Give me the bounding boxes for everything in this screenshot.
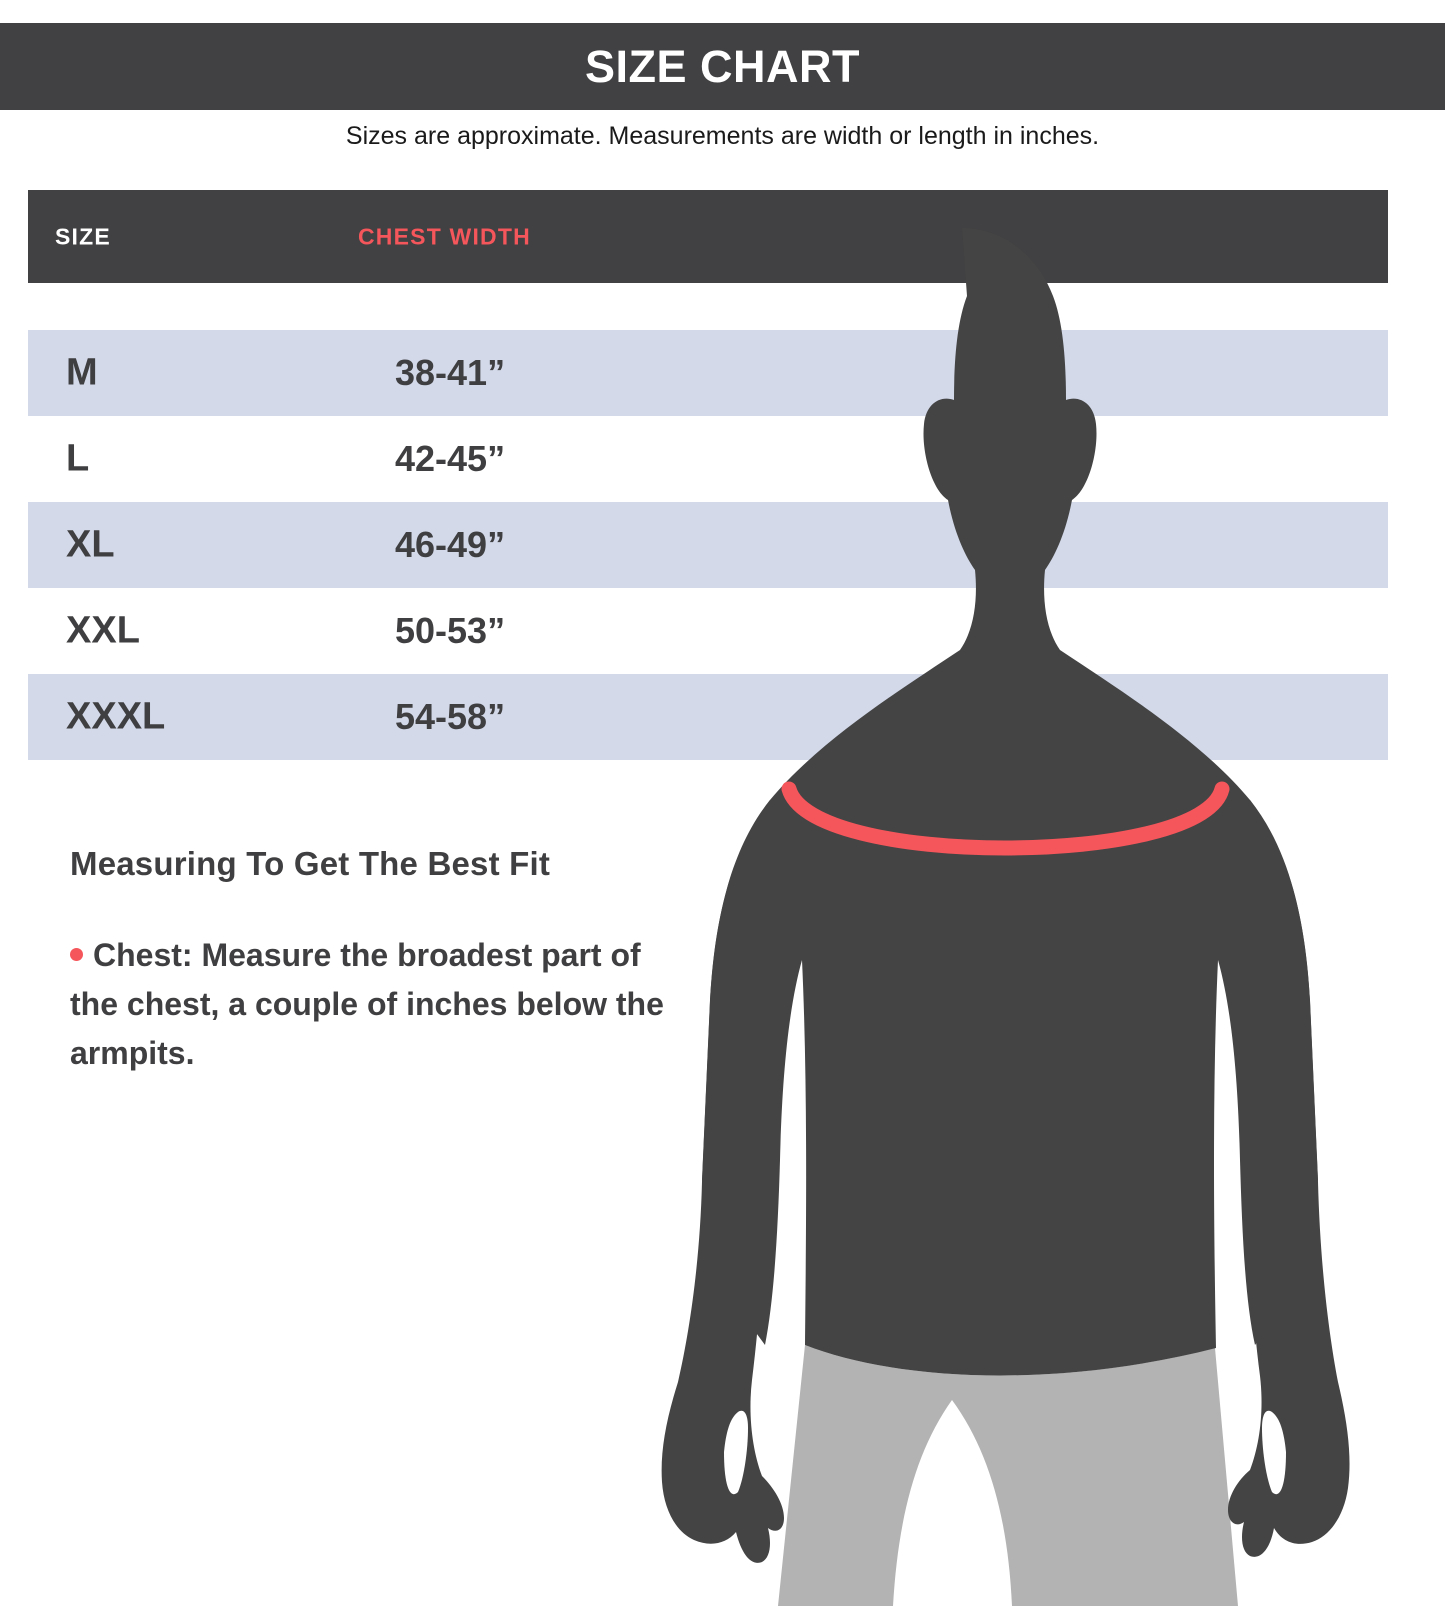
notes-heading: Measuring To Get The Best Fit <box>70 845 690 883</box>
page-title: SIZE CHART <box>585 41 860 93</box>
cell-chest-width: 42-45” <box>395 438 505 480</box>
table-body: M 38-41” L 42-45” XL 46-49” XXL 50-53” X… <box>28 330 1388 760</box>
pants-shape <box>778 1345 1238 1606</box>
notes-bullet-text: Chest: Measure the broadest part of the … <box>70 937 664 1071</box>
cell-size: M <box>66 352 98 395</box>
table-row: XXXL 54-58” <box>28 674 1388 760</box>
table-row: XL 46-49” <box>28 502 1388 588</box>
cell-size: XXL <box>66 610 140 653</box>
title-banner: SIZE CHART <box>0 23 1445 110</box>
table-row: L 42-45” <box>28 416 1388 502</box>
column-header-chest-width: CHEST WIDTH <box>358 223 531 250</box>
subtitle-text: Sizes are approximate. Measurements are … <box>0 113 1445 159</box>
cell-size: XXXL <box>66 696 165 739</box>
cell-chest-width: 38-41” <box>395 352 505 394</box>
size-table: SIZE CHEST WIDTH M 38-41” L 42-45” XL 46… <box>28 190 1388 283</box>
chest-measure-line <box>789 789 1222 848</box>
bullet-dot-icon <box>70 948 83 961</box>
cell-chest-width: 46-49” <box>395 524 505 566</box>
notes-bullet: Chest: Measure the broadest part of the … <box>70 931 690 1078</box>
cell-chest-width: 54-58” <box>395 696 505 738</box>
right-hand-notch-shape <box>1262 1411 1286 1494</box>
cell-chest-width: 50-53” <box>395 610 505 652</box>
left-hand-notch-shape <box>724 1411 748 1494</box>
column-header-size: SIZE <box>55 223 111 250</box>
table-header-row: SIZE CHEST WIDTH <box>28 190 1388 283</box>
cell-size: XL <box>66 524 115 567</box>
cell-size: L <box>66 438 89 481</box>
size-chart-page: SIZE CHART Sizes are approximate. Measur… <box>0 0 1445 1606</box>
measuring-notes: Measuring To Get The Best Fit Chest: Mea… <box>70 845 690 1078</box>
table-row: XXL 50-53” <box>28 588 1388 674</box>
right-arm-shape <box>1212 800 1350 1557</box>
table-row: M 38-41” <box>28 330 1388 416</box>
